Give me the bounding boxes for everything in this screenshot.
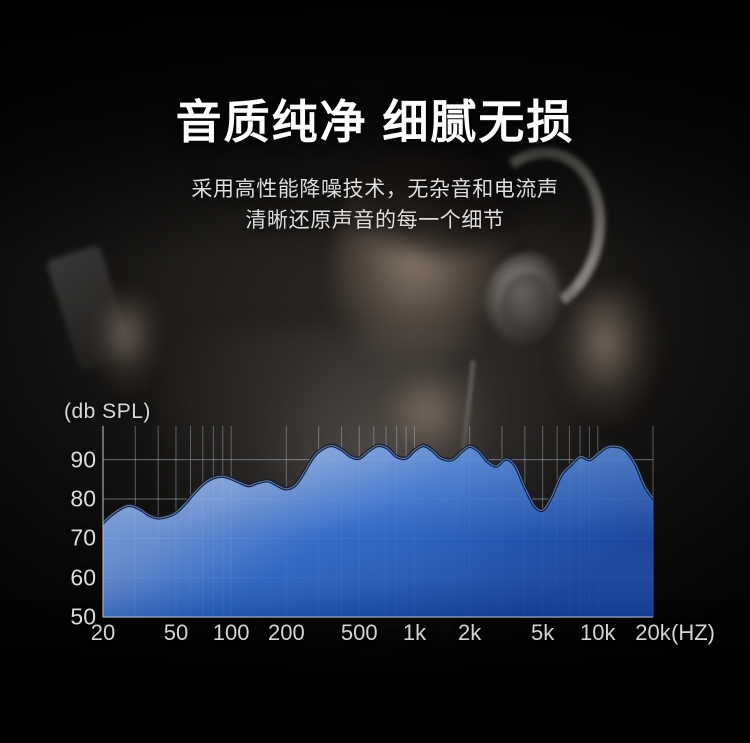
x-tick-20: 20	[91, 620, 115, 646]
subtitle-line-2: 清晰还原声音的每一个细节	[0, 205, 750, 236]
x-tick-5k: 5k	[531, 620, 554, 646]
x-tick-200: 200	[268, 620, 305, 646]
x-tick-100: 100	[213, 620, 250, 646]
x-tick-2k: 2k	[458, 620, 481, 646]
subtitle: 采用高性能降噪技术，无杂音和电流声 清晰还原声音的每一个细节	[0, 174, 750, 236]
x-axis-tick-labels: 20501002005001k2k5k10k20k(HZ)	[0, 620, 750, 654]
x-tick-500: 500	[341, 620, 378, 646]
x-axis-unit-label: (HZ)	[671, 620, 715, 646]
x-tick-1k: 1k	[403, 620, 426, 646]
frequency-response-chart: (db SPL) 9080706050 20501002005001k2k5k1…	[0, 392, 750, 662]
page-title: 音质纯净 细腻无损	[0, 96, 750, 148]
x-tick-50: 50	[164, 620, 188, 646]
subtitle-line-1: 采用高性能降噪技术，无杂音和电流声	[0, 174, 750, 205]
x-tick-20k: 20k	[635, 620, 670, 646]
promo-banner: 音质纯净 细腻无损 采用高性能降噪技术，无杂音和电流声 清晰还原声音的每一个细节…	[0, 0, 750, 743]
x-tick-10k: 10k	[580, 620, 615, 646]
